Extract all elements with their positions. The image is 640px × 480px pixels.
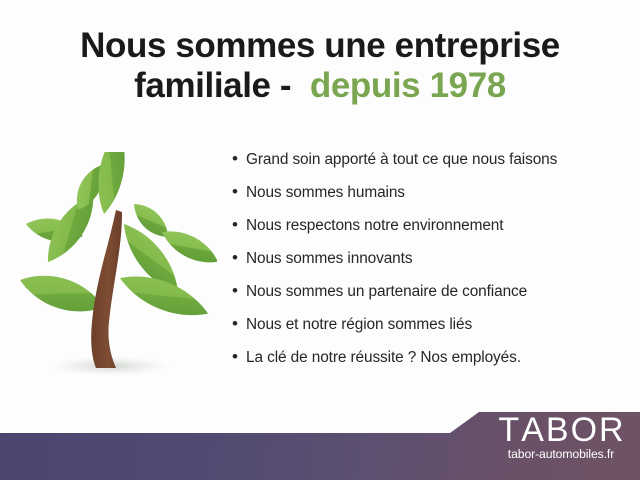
title-line-1: Nous sommes une entreprise	[0, 26, 640, 66]
logo-letter-r: R	[599, 413, 624, 447]
list-item: • La clé de notre réussite ? Nos employé…	[232, 348, 632, 381]
page-title: Nous sommes une entreprise familiale - d…	[0, 26, 640, 106]
title-line-2-main: familiale -	[134, 66, 291, 105]
bullet-marker-icon: •	[232, 150, 246, 167]
logo-letter-a: A	[521, 413, 544, 447]
list-item-label: Nous et notre région sommes liés	[246, 316, 472, 334]
bullet-marker-icon: •	[232, 249, 246, 266]
title-accent-text: depuis 1978	[310, 66, 506, 105]
tree-trunk	[91, 210, 122, 368]
benefits-list: • Grand soin apporté à tout ce que nous …	[232, 150, 632, 381]
list-item: • Nous sommes humains	[232, 183, 632, 216]
list-item-label: Nous sommes un partenaire de confiance	[246, 283, 527, 301]
slide-canvas: Nous sommes une entreprise familiale - d…	[0, 0, 640, 480]
list-item: • Grand soin apporté à tout ce que nous …	[232, 150, 632, 183]
list-item: • Nous respectons notre environnement	[232, 216, 632, 249]
list-item-label: Nous respectons notre environnement	[246, 217, 503, 235]
list-item: • Nous sommes innovants	[232, 249, 632, 282]
list-item: • Nous sommes un partenaire de confiance	[232, 282, 632, 315]
logo-wordmark: T A B O R	[486, 413, 636, 447]
list-item-label: Nous sommes humains	[246, 184, 405, 202]
brand-logo[interactable]: T A B O R tabor-automobiles.fr	[486, 413, 636, 460]
bullet-marker-icon: •	[232, 348, 246, 365]
list-item-label: Nous sommes innovants	[246, 250, 412, 268]
logo-letter-t: T	[498, 413, 519, 447]
bullet-marker-icon: •	[232, 216, 246, 233]
list-item: • Nous et notre région sommes liés	[232, 315, 632, 348]
bullet-marker-icon: •	[232, 183, 246, 200]
logo-letter-o: O	[571, 413, 597, 447]
logo-tagline: tabor-automobiles.fr	[486, 448, 636, 460]
bullet-marker-icon: •	[232, 282, 246, 299]
list-item-label: Grand soin apporté à tout ce que nous fa…	[246, 151, 557, 169]
title-line-2: familiale - depuis 1978	[0, 66, 640, 106]
list-item-label: La clé de notre réussite ? Nos employés.	[246, 349, 521, 367]
logo-letter-b: B	[546, 413, 569, 447]
bullet-marker-icon: •	[232, 315, 246, 332]
tree-icon	[12, 152, 217, 387]
